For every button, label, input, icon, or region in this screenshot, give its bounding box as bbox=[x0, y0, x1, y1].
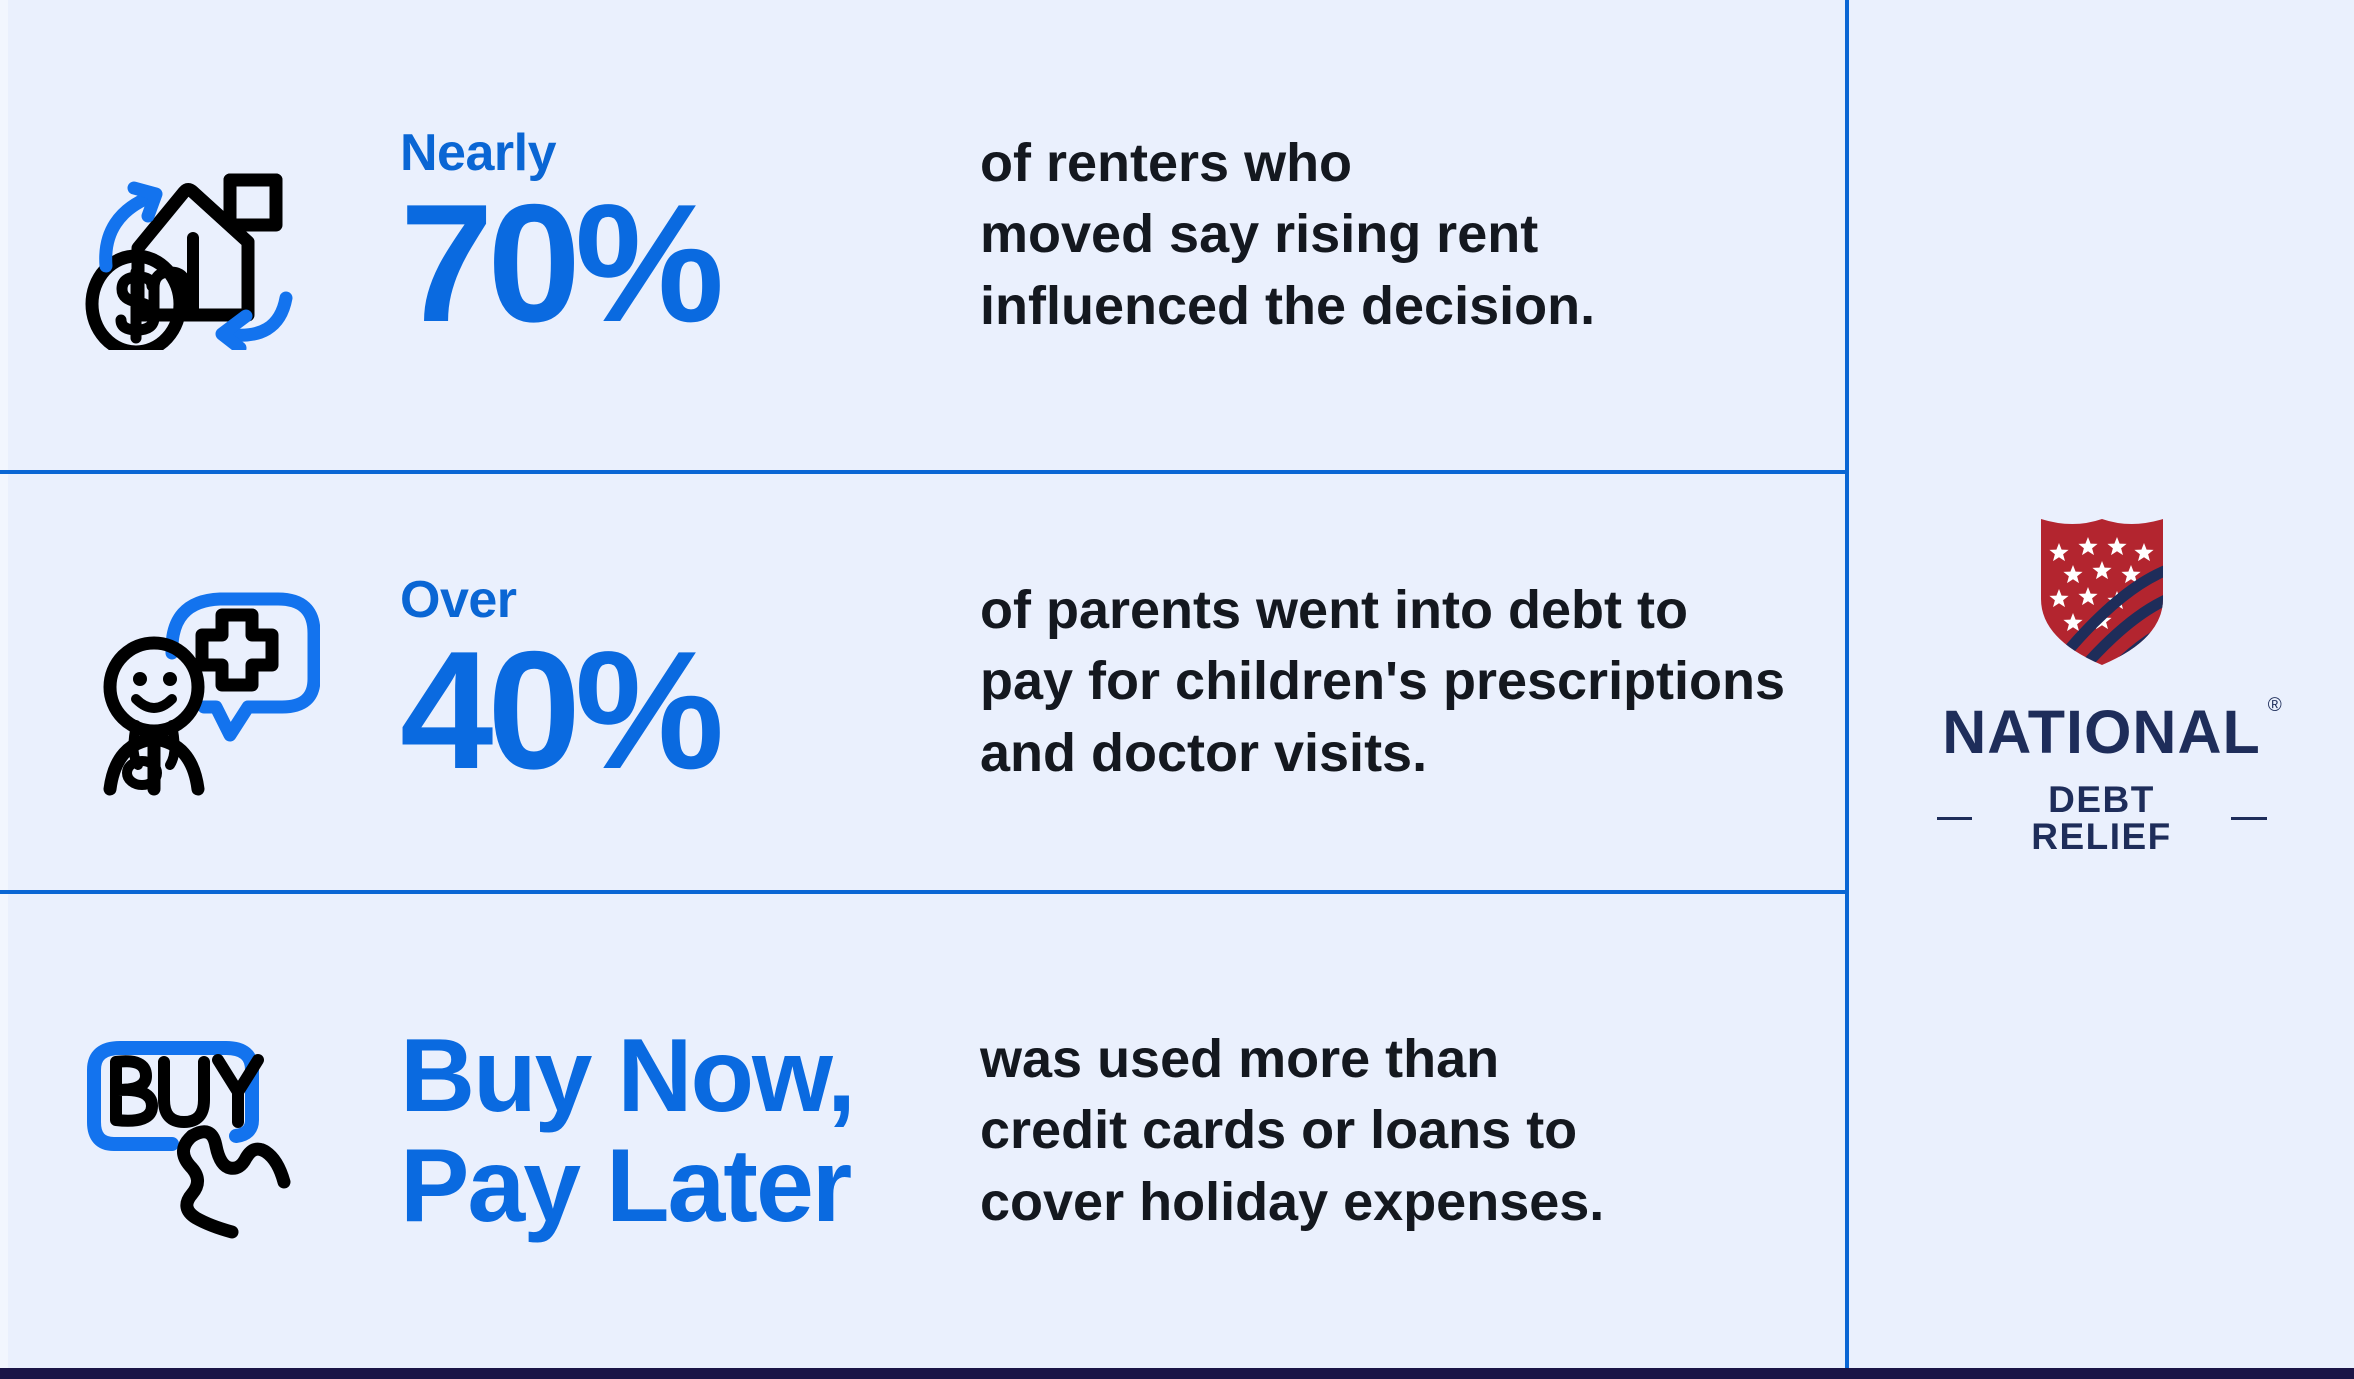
stat-description: of parents went into debt to pay for chi… bbox=[980, 575, 1805, 789]
stat-row-bnpl: Buy Now, Pay Later was used more than cr… bbox=[0, 894, 1845, 1368]
stat-body-renters: of renters who moved say rising rent inf… bbox=[980, 128, 1845, 342]
stat-row-renters: Nearly 70% of renters who moved say risi… bbox=[0, 0, 1845, 470]
registered-trademark-icon: ® bbox=[2268, 696, 2283, 715]
stat-row-parents: Over 40% of parents went into debt to pa… bbox=[0, 474, 1845, 890]
logo-subtitle: DEBT RELIEF bbox=[1988, 781, 2216, 855]
stat-block-renters: Nearly 70% bbox=[400, 127, 980, 343]
stat-value: Buy Now, Pay Later bbox=[400, 1021, 980, 1241]
stat-description: of renters who moved say rising rent inf… bbox=[980, 128, 1805, 342]
stat-block-bnpl: Buy Now, Pay Later bbox=[400, 1021, 980, 1241]
stat-value: 70% bbox=[400, 185, 980, 343]
stat-block-parents: Over 40% bbox=[400, 574, 980, 790]
infographic-canvas: Nearly 70% of renters who moved say risi… bbox=[0, 0, 2354, 1379]
brand-logo: NATIONAL ® DEBT RELIEF bbox=[1849, 0, 2354, 1368]
house-money-exchange-icon bbox=[0, 120, 400, 350]
logo-subtitle-row: DEBT RELIEF bbox=[1937, 781, 2267, 855]
logo-wordmark: NATIONAL ® bbox=[1942, 702, 2261, 763]
stat-value: 40% bbox=[400, 632, 980, 790]
stat-body-parents: of parents went into debt to pay for chi… bbox=[980, 575, 1845, 789]
buy-button-hand-click-icon bbox=[0, 1016, 400, 1246]
logo-rule-left bbox=[1937, 817, 1972, 820]
logo-rule-right bbox=[2231, 817, 2266, 820]
logo-name-text: NATIONAL bbox=[1942, 698, 2261, 766]
doctor-medical-speech-bubble-icon bbox=[0, 567, 400, 797]
shield-stars-stripes-icon bbox=[1937, 513, 2267, 676]
stat-description: was used more than credit cards or loans… bbox=[980, 1024, 1805, 1238]
bottom-accent-bar bbox=[0, 1368, 2354, 1379]
stat-body-bnpl: was used more than credit cards or loans… bbox=[980, 1024, 1845, 1238]
